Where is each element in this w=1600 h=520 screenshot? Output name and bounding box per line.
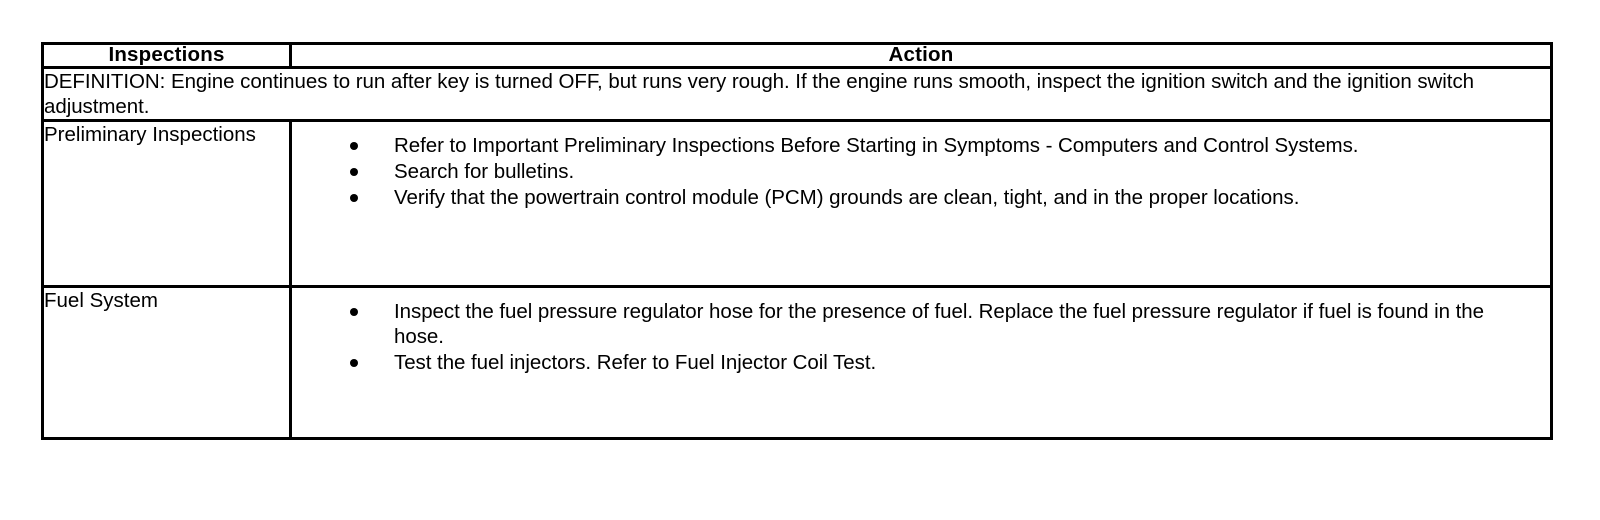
list-item-text: Inspect the fuel pressure regulator hose… xyxy=(394,300,1484,348)
row-label-cell-fuel-system: Fuel System xyxy=(43,286,291,438)
list-item-text: Refer to Important Preliminary Inspectio… xyxy=(394,134,1358,157)
row-label-text: Preliminary Inspections xyxy=(44,122,289,147)
list-item: Inspect the fuel pressure regulator hose… xyxy=(292,299,1536,350)
bullet-dot-icon xyxy=(350,142,358,150)
bullet-list: Inspect the fuel pressure regulator hose… xyxy=(292,288,1550,376)
bullet-dot-icon xyxy=(350,194,358,202)
list-item: Search for bulletins. xyxy=(292,159,1536,184)
bullet-dot-icon xyxy=(350,168,358,176)
bullet-dot-icon xyxy=(350,359,358,367)
list-item-text: Test the fuel injectors. Refer to Fuel I… xyxy=(394,351,876,374)
definition-text: DEFINITION: Engine continues to run afte… xyxy=(44,69,1550,119)
table-row: Preliminary Inspections Refer to Importa… xyxy=(43,120,1552,286)
row-action-cell-preliminary-inspections: Refer to Important Preliminary Inspectio… xyxy=(291,120,1552,286)
list-item-text: Verify that the powertrain control modul… xyxy=(394,186,1299,209)
list-item: Refer to Important Preliminary Inspectio… xyxy=(292,133,1536,158)
bullet-dot-icon xyxy=(350,308,358,316)
page-root: Inspections Action DEFINITION: Engine co… xyxy=(0,0,1600,520)
diagnostic-inspection-table: Inspections Action DEFINITION: Engine co… xyxy=(41,42,1553,440)
list-item: Verify that the powertrain control modul… xyxy=(292,185,1536,210)
list-item-text: Search for bulletins. xyxy=(394,160,574,183)
row-label-cell-preliminary-inspections: Preliminary Inspections xyxy=(43,120,291,286)
definition-row: DEFINITION: Engine continues to run afte… xyxy=(43,67,1552,120)
definition-cell: DEFINITION: Engine continues to run afte… xyxy=(43,67,1552,120)
column-header-inspections: Inspections xyxy=(43,44,291,68)
table-row: Fuel System Inspect the fuel pressure re… xyxy=(43,286,1552,438)
bullet-list: Refer to Important Preliminary Inspectio… xyxy=(292,122,1550,211)
column-header-action: Action xyxy=(291,44,1552,68)
list-item: Test the fuel injectors. Refer to Fuel I… xyxy=(292,350,1536,375)
row-label-text: Fuel System xyxy=(44,288,289,313)
table-header-row: Inspections Action xyxy=(43,44,1552,68)
row-action-cell-fuel-system: Inspect the fuel pressure regulator hose… xyxy=(291,286,1552,438)
